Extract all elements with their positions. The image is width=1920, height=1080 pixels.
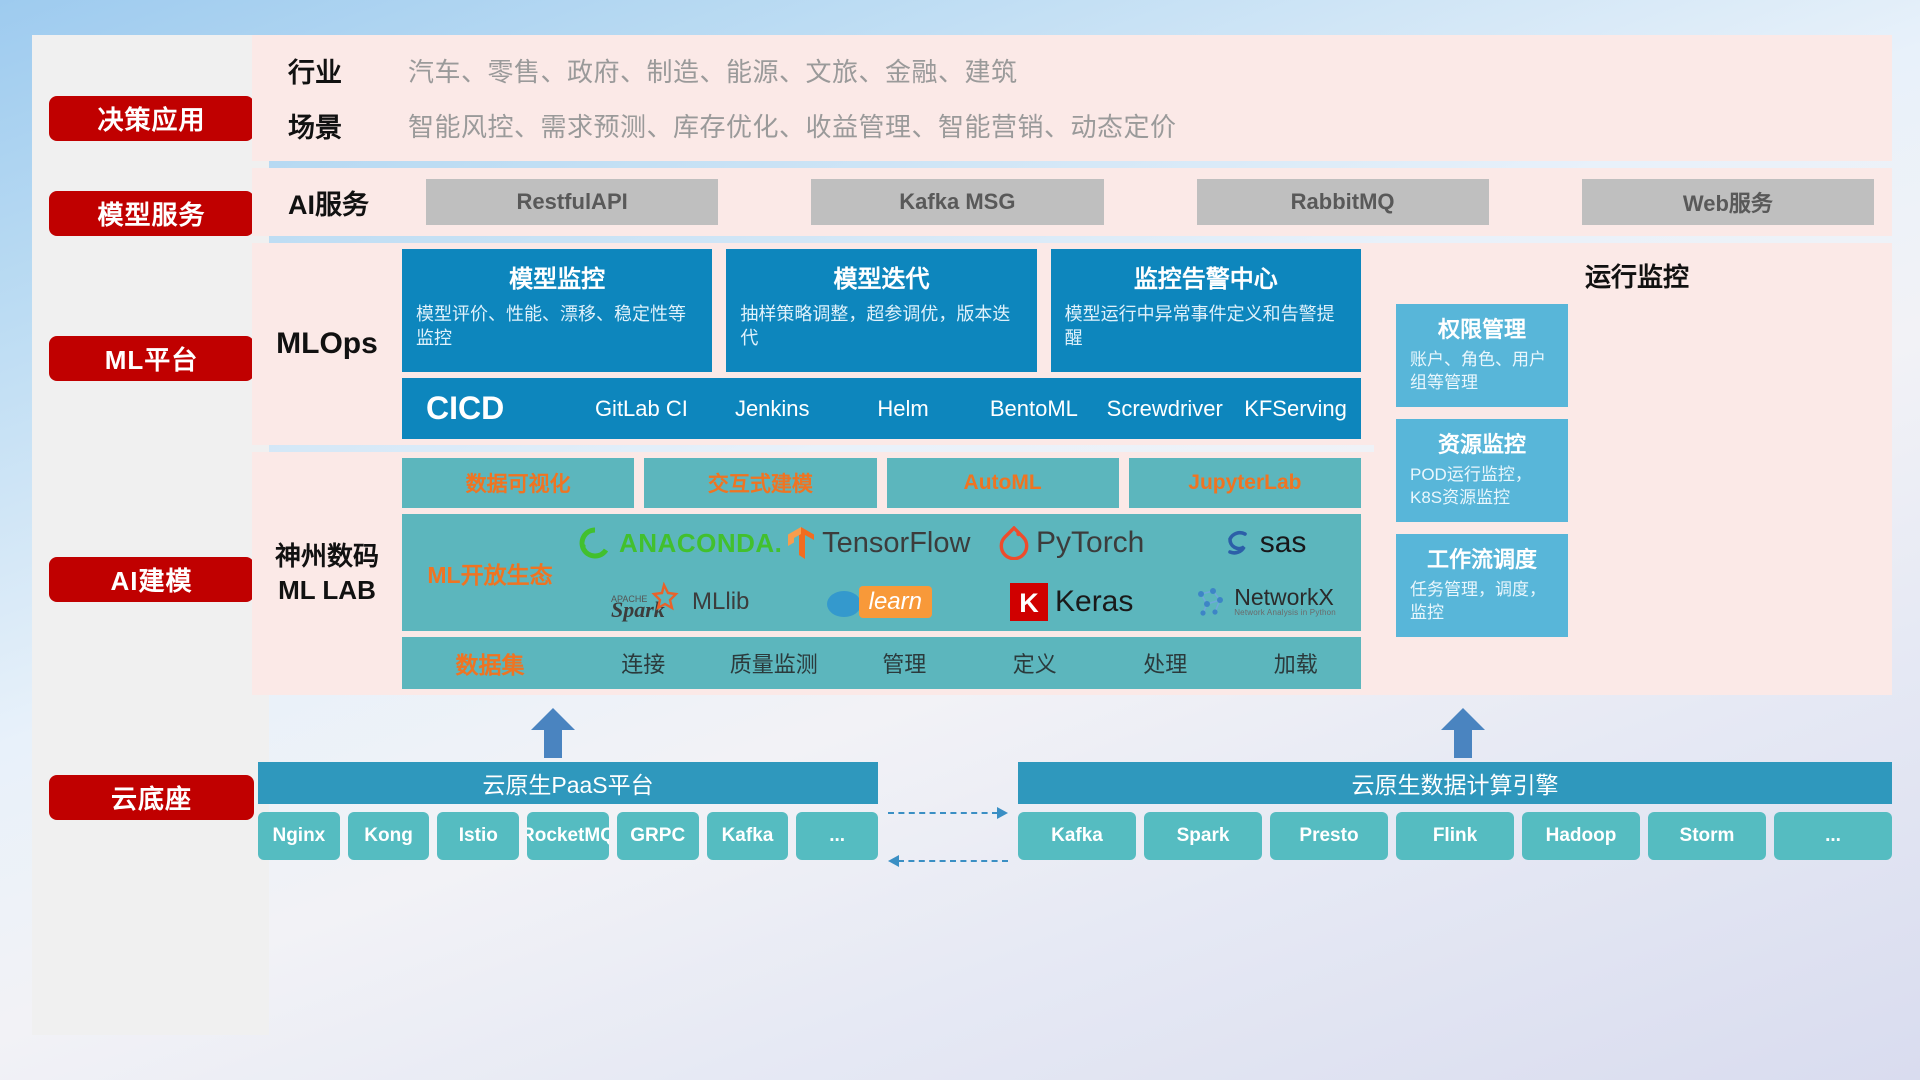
rail-item-label: ML平台 (105, 340, 199, 377)
industry-scenario-band: 行业 汽车、零售、政府、制造、能源、文旅、金融、建筑 场景 智能风控、需求预测、… (252, 35, 1892, 161)
dataset-item-define[interactable]: 定义 (970, 647, 1101, 679)
dataset-item-process[interactable]: 处理 (1100, 647, 1231, 679)
card-desc: 账户、角色、用户组等管理 (1410, 349, 1554, 395)
keras-logo: K Keras (975, 583, 1168, 621)
paas-chip-nginx[interactable]: Nginx (258, 812, 340, 860)
ops-card-resource-monitoring[interactable]: 资源监控 POD运行监控，K8S资源监控 (1396, 419, 1568, 522)
paas-chip-more[interactable]: ... (796, 812, 878, 860)
operations-rail-title: 运行监控 (1396, 257, 1878, 294)
engine-chip-more[interactable]: ... (1774, 812, 1892, 860)
paas-up-arrow-icon (530, 708, 576, 758)
ml-lab-key-line2: ML LAB (278, 574, 376, 608)
mlops-card-alert-center[interactable]: 监控告警中心 模型运行中异常事件定义和告警提醒 (1051, 249, 1361, 372)
tool-chip-automl[interactable]: AutoML (887, 458, 1119, 508)
sas-wordmark: sas (1260, 526, 1307, 560)
rail-item-cloud-base[interactable]: 云底座 (49, 775, 254, 820)
card-desc: 任务管理，调度，监控 (1410, 579, 1554, 625)
cicd-item-gitlab-ci[interactable]: GitLab CI (576, 396, 707, 420)
cloud-native-data-engine-group: 云原生数据计算引擎 Kafka Spark Presto Flink Hadoo… (1018, 762, 1892, 860)
ml-lab-key: 神州数码 ML LAB (252, 452, 402, 695)
industry-value: 汽车、零售、政府、制造、能源、文旅、金融、建筑 (408, 52, 1018, 89)
spark-mllib-logo: APACHE Spark MLlib (578, 582, 782, 622)
card-title: 模型监控 (509, 259, 605, 294)
mlops-key: MLOps (252, 243, 402, 445)
dataset-item-load[interactable]: 加载 (1231, 647, 1362, 679)
engine-chip-storm[interactable]: Storm (1648, 812, 1766, 860)
engine-title: 云原生数据计算引擎 (1018, 762, 1892, 804)
cicd-label: CICD (426, 390, 576, 427)
dataset-item-manage[interactable]: 管理 (839, 647, 970, 679)
engine-chip-flink[interactable]: Flink (1396, 812, 1514, 860)
dataset-item-connect[interactable]: 连接 (578, 647, 709, 679)
mlops-card-model-iteration[interactable]: 模型迭代 抽样策略调整，超参调优，版本迭代 (726, 249, 1036, 372)
ai-service-chip-kafka-msg[interactable]: Kafka MSG (811, 179, 1103, 225)
engine-chip-hadoop[interactable]: Hadoop (1522, 812, 1640, 860)
rail-item-label: 云底座 (111, 779, 192, 816)
cicd-item-kfserving[interactable]: KFServing (1230, 396, 1361, 420)
svg-text:K: K (1019, 588, 1039, 618)
architecture-diagram: 决策应用 模型服务 ML平台 AI建模 云底座 行业 汽车、零售、政府、制造、能… (0, 0, 1920, 1080)
networkx-icon (1193, 585, 1227, 619)
anaconda-logo: ANACONDA. (578, 526, 782, 560)
pytorch-logo: PyTorch (975, 526, 1168, 560)
paas-chip-grpc[interactable]: GRPC (617, 812, 699, 860)
cicd-item-helm[interactable]: Helm (838, 396, 969, 420)
scikit-learn-wordmark: learn (859, 586, 932, 618)
ml-ecosystem-label: ML开放生态 (402, 514, 578, 631)
mlops-card-model-monitoring[interactable]: 模型监控 模型评价、性能、漂移、稳定性等监控 (402, 249, 712, 372)
networkx-logo: NetworkX Network Analysis in Python (1168, 585, 1361, 619)
tensorflow-logo: TensorFlow (782, 526, 975, 560)
rail-item-decision-app[interactable]: 决策应用 (49, 96, 254, 141)
rail-item-model-service[interactable]: 模型服务 (49, 191, 254, 236)
scikit-learn-logo: learn (782, 584, 975, 620)
dataset-label: 数据集 (402, 646, 578, 680)
paas-title: 云原生PaaS平台 (258, 762, 878, 804)
scenario-value: 智能风控、需求预测、库存优化、收益管理、智能营销、动态定价 (408, 107, 1177, 144)
engine-up-arrow-icon (1440, 708, 1486, 758)
engine-chip-kafka[interactable]: Kafka (1018, 812, 1136, 860)
pytorch-wordmark: PyTorch (1036, 526, 1144, 560)
ai-service-chip-web-service[interactable]: Web服务 (1582, 179, 1874, 225)
card-title: 工作流调度 (1410, 542, 1554, 574)
networkx-tagline: Network Analysis in Python (1234, 609, 1336, 617)
pytorch-icon (999, 526, 1029, 560)
operations-monitoring-rail: 运行监控 权限管理 账户、角色、用户组等管理 资源监控 POD运行监控，K8S资… (1374, 243, 1892, 695)
networkx-wordmark: NetworkX (1234, 586, 1336, 609)
engine-chip-presto[interactable]: Presto (1270, 812, 1388, 860)
ai-service-band: AI服务 RestfulAPI Kafka MSG RabbitMQ Web服务 (252, 168, 1892, 236)
main-column: 行业 汽车、零售、政府、制造、能源、文旅、金融、建筑 场景 智能风控、需求预测、… (252, 35, 1892, 695)
cicd-item-bentoml[interactable]: BentoML (968, 396, 1099, 420)
ops-card-permission-management[interactable]: 权限管理 账户、角色、用户组等管理 (1396, 304, 1568, 407)
dataset-item-quality-monitoring[interactable]: 质量监测 (709, 647, 840, 679)
keras-icon: K (1010, 583, 1048, 621)
card-desc: 模型运行中异常事件定义和告警提醒 (1065, 302, 1347, 351)
rail-item-ml-platform[interactable]: ML平台 (49, 336, 254, 381)
ai-service-key: AI服务 (288, 183, 408, 222)
rail-item-ai-modeling[interactable]: AI建模 (49, 557, 254, 602)
sas-icon (1223, 528, 1253, 558)
dataset-bar: 数据集 连接 质量监测 管理 定义 处理 加载 (402, 637, 1361, 689)
paas-chip-rocketmq[interactable]: RocketMQ (527, 812, 609, 860)
scenario-row: 场景 智能风控、需求预测、库存优化、收益管理、智能营销、动态定价 (288, 106, 1177, 145)
tool-chip-interactive-modeling[interactable]: 交互式建模 (644, 458, 876, 508)
rail-item-label: AI建模 (110, 561, 192, 598)
cicd-item-screwdriver[interactable]: Screwdriver (1099, 396, 1230, 420)
card-title: 资源监控 (1410, 427, 1554, 459)
rail-item-label: 模型服务 (97, 195, 205, 232)
engine-to-paas-arrow (888, 860, 1008, 862)
card-desc: POD运行监控，K8S资源监控 (1410, 464, 1554, 510)
ops-card-workflow-scheduling[interactable]: 工作流调度 任务管理，调度，监控 (1396, 534, 1568, 637)
layer-rail: 决策应用 模型服务 ML平台 AI建模 云底座 (32, 35, 269, 1035)
paas-to-engine-arrow (888, 812, 1008, 814)
anaconda-wordmark: ANACONDA. (619, 528, 782, 559)
anaconda-icon (578, 526, 612, 560)
industry-key: 行业 (288, 51, 408, 90)
paas-chip-kafka[interactable]: Kafka (707, 812, 789, 860)
cicd-bar: CICD GitLab CI Jenkins Helm BentoML Scre… (402, 378, 1361, 439)
mllib-wordmark: MLlib (692, 588, 749, 616)
sas-logo: sas (1168, 526, 1361, 560)
ai-service-chip-restfulapi[interactable]: RestfulAPI (426, 179, 718, 225)
ml-lab-key-line1: 神州数码 (275, 540, 379, 574)
cloud-base-zone: 云原生PaaS平台 Nginx Kong Istio RocketMQ GRPC… (252, 700, 1892, 1035)
tensorflow-icon (787, 526, 815, 560)
paas-chip-kong[interactable]: Kong (348, 812, 430, 860)
ml-ecosystem-panel: ML开放生态 ANACONDA. (402, 514, 1361, 631)
card-title: 权限管理 (1410, 312, 1554, 344)
tool-chip-jupyterlab[interactable]: JupyterLab (1129, 458, 1361, 508)
tool-chip-data-visualization[interactable]: 数据可视化 (402, 458, 634, 508)
tensorflow-wordmark: TensorFlow (822, 527, 970, 560)
paas-chip-istio[interactable]: Istio (437, 812, 519, 860)
card-title: 监控告警中心 (1134, 259, 1278, 294)
spark-icon: APACHE Spark (611, 582, 685, 622)
engine-chip-spark[interactable]: Spark (1144, 812, 1262, 860)
card-desc: 模型评价、性能、漂移、稳定性等监控 (416, 302, 698, 351)
card-desc: 抽样策略调整，超参调优，版本迭代 (740, 302, 1022, 351)
ai-service-chip-rabbitmq[interactable]: RabbitMQ (1197, 179, 1489, 225)
cicd-item-jenkins[interactable]: Jenkins (707, 396, 838, 420)
cloud-native-paas-group: 云原生PaaS平台 Nginx Kong Istio RocketMQ GRPC… (258, 762, 878, 860)
industry-row: 行业 汽车、零售、政府、制造、能源、文旅、金融、建筑 (288, 51, 1177, 90)
scenario-key: 场景 (288, 106, 408, 145)
rail-item-label: 决策应用 (97, 100, 205, 137)
keras-wordmark: Keras (1055, 585, 1133, 619)
card-title: 模型迭代 (833, 259, 929, 294)
